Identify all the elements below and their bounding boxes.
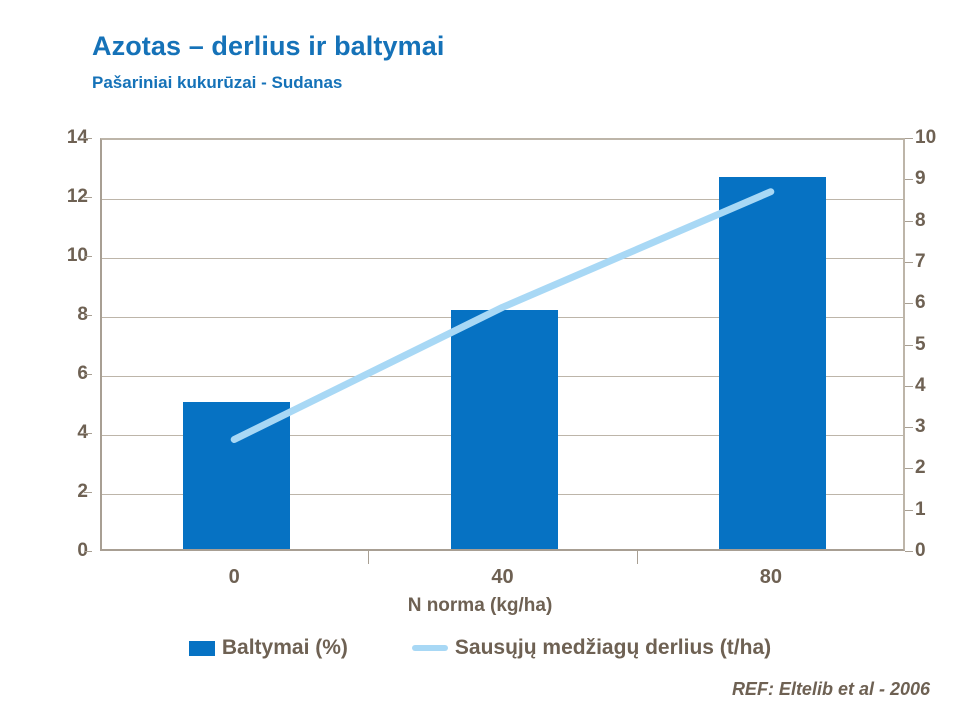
- y-axis-right-label: 6: [915, 292, 955, 314]
- y-axis-left-label: 14: [36, 127, 88, 149]
- y-axis-right-tick: [905, 386, 913, 387]
- y-axis-left-label: 6: [36, 363, 88, 385]
- x-axis-label-80: 80: [726, 566, 816, 589]
- y-axis-left-label: 12: [36, 186, 88, 208]
- bar-80[interactable]: [719, 177, 826, 549]
- legend-label-baltymai: Baltymai (%): [222, 636, 348, 660]
- chart-title: Azotas – derlius ir baltymai: [92, 31, 444, 62]
- y-axis-right-label: 2: [915, 457, 955, 479]
- y-axis-left-label: 4: [36, 422, 88, 444]
- y-axis-right-label: 10: [915, 127, 955, 149]
- y-axis-right-label: 1: [915, 499, 955, 521]
- plot-area: [100, 138, 905, 551]
- y-axis-right-label: 5: [915, 334, 955, 356]
- y-axis-right-label: 9: [915, 168, 955, 190]
- y-axis-right-tick: [905, 262, 913, 263]
- y-axis-left-tick: [84, 374, 92, 375]
- y-axis-right-tick: [905, 468, 913, 469]
- x-axis-tick: [637, 551, 638, 564]
- y-axis-right-tick: [905, 551, 913, 552]
- y-axis-right-tick: [905, 179, 913, 180]
- y-axis-left-label: 10: [36, 245, 88, 267]
- y-axis-right: 012345678910: [915, 138, 957, 551]
- y-axis-left-tick: [84, 551, 92, 552]
- legend-item-baltymai[interactable]: Baltymai (%): [189, 636, 348, 660]
- y-axis-right-label: 7: [915, 251, 955, 273]
- chart-subtitle: Pašariniai kukurūzai - Sudanas: [92, 73, 342, 93]
- chart-legend: Baltymai (%) Sausųjų medžiagų derlius (t…: [0, 636, 960, 660]
- y-axis-right-tick: [905, 427, 913, 428]
- y-axis-right-tick: [905, 138, 913, 139]
- y-axis-left-tick: [84, 433, 92, 434]
- x-axis-tick: [368, 551, 369, 564]
- y-axis-right-tick: [905, 510, 913, 511]
- y-axis-left-tick: [84, 197, 92, 198]
- y-axis-right-label: 4: [915, 375, 955, 397]
- y-axis-left-label: 2: [36, 481, 88, 503]
- legend-item-derlius[interactable]: Sausųjų medžiagų derlius (t/ha): [412, 636, 771, 660]
- y-axis-right-label: 8: [915, 210, 955, 232]
- y-axis-left-tick: [84, 138, 92, 139]
- x-axis-title: N norma (kg/ha): [0, 595, 960, 617]
- y-axis-right-tick: [905, 221, 913, 222]
- y-axis-right-label: 0: [915, 540, 955, 562]
- legend-bar-swatch-icon: [189, 641, 215, 656]
- bar-0[interactable]: [183, 402, 290, 550]
- y-axis-right-tick: [905, 303, 913, 304]
- legend-line-swatch-icon: [412, 645, 448, 651]
- bar-40[interactable]: [451, 310, 558, 549]
- reference-note: REF: Eltelib et al - 2006: [732, 679, 930, 700]
- legend-label-derlius: Sausųjų medžiagų derlius (t/ha): [455, 636, 771, 660]
- y-axis-left-tick: [84, 315, 92, 316]
- y-axis-left-label: 0: [36, 540, 88, 562]
- y-axis-left-tick: [84, 492, 92, 493]
- y-axis-left-tick: [84, 256, 92, 257]
- x-axis: 04080: [100, 551, 905, 591]
- x-axis-label-0: 0: [189, 566, 279, 589]
- y-axis-right-tick: [905, 345, 913, 346]
- y-axis-left-label: 8: [36, 304, 88, 326]
- y-axis-left: 02468101214: [28, 138, 88, 551]
- y-axis-right-label: 3: [915, 416, 955, 438]
- x-axis-label-40: 40: [458, 566, 548, 589]
